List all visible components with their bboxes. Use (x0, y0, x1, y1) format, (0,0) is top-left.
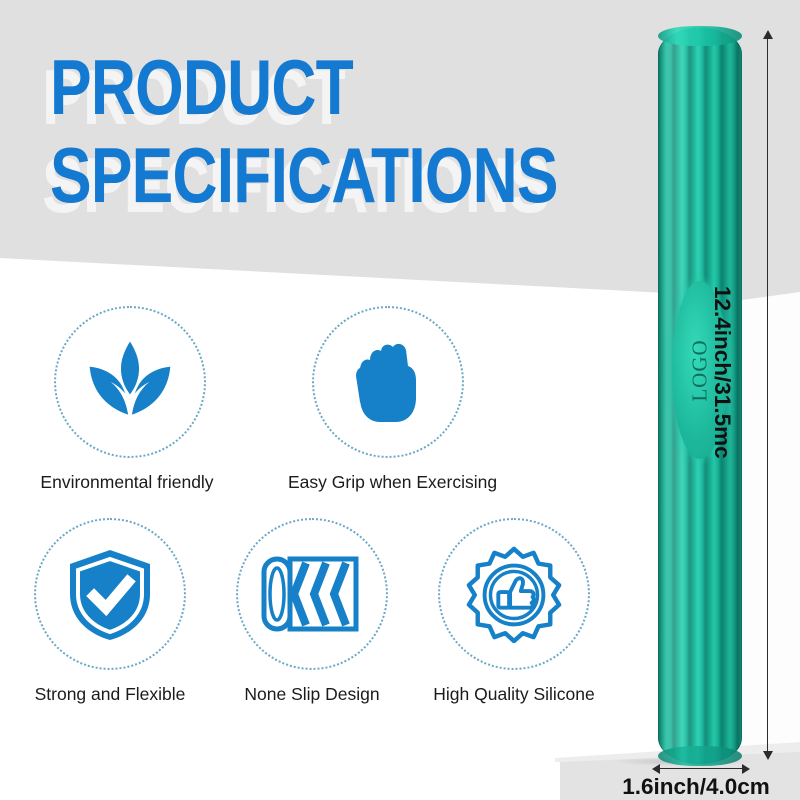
dimension-line-vertical (767, 36, 768, 754)
feature-item-nonslip: None Slip Design (212, 518, 412, 705)
feature-label: Environmental friendly (24, 472, 230, 493)
feature-label: High Quality Silicone (414, 684, 614, 705)
background-white-wedge (742, 292, 800, 762)
product-bar-top-cap (658, 26, 742, 46)
arrow-head-down (763, 751, 773, 760)
width-dimension-label: 1.6inch/4.0cm (592, 774, 800, 800)
feature-label: None Slip Design (212, 684, 412, 705)
quality-badge-icon (465, 545, 563, 643)
feature-circle (236, 518, 388, 670)
height-dimension-arrow (767, 30, 769, 760)
shield-check-icon (64, 546, 156, 642)
feature-label: Easy Grip when Exercising (288, 472, 488, 493)
feature-circle (54, 306, 206, 458)
dimension-line-horizontal (658, 768, 744, 769)
fist-icon (346, 336, 430, 428)
rolled-mat-icon (260, 551, 364, 637)
feature-item-environmental: Environmental friendly (30, 306, 230, 493)
feature-label: Strong and Flexible (10, 684, 210, 705)
arrow-head-right (742, 764, 750, 774)
feature-circle (438, 518, 590, 670)
feature-item-silicone: High Quality Silicone (414, 518, 614, 705)
title-line2: SPECIFICATIONS (50, 130, 558, 221)
product-bar-bottom-cap (658, 746, 742, 766)
feature-item-flexible: Strong and Flexible (10, 518, 210, 705)
feature-circle (34, 518, 186, 670)
product-specifications-infographic: PRODUCT SPECIFICATIONS PRODUCT SPECIFICA… (0, 0, 800, 800)
feature-item-grip: Easy Grip when Exercising (288, 306, 488, 493)
arrow-head-up (763, 30, 773, 39)
arrow-head-left (652, 764, 660, 774)
page-title: PRODUCT SPECIFICATIONS PRODUCT SPECIFICA… (0, 24, 660, 234)
title-line1: PRODUCT (50, 42, 353, 133)
feature-circle (312, 306, 464, 458)
height-dimension-label: 12.4inch/31.5mc (709, 286, 735, 459)
feature-grid: Environmental friendly Easy Grip when Ex… (20, 306, 640, 736)
width-dimension-arrow (652, 764, 750, 774)
leaf-icon (82, 334, 178, 430)
